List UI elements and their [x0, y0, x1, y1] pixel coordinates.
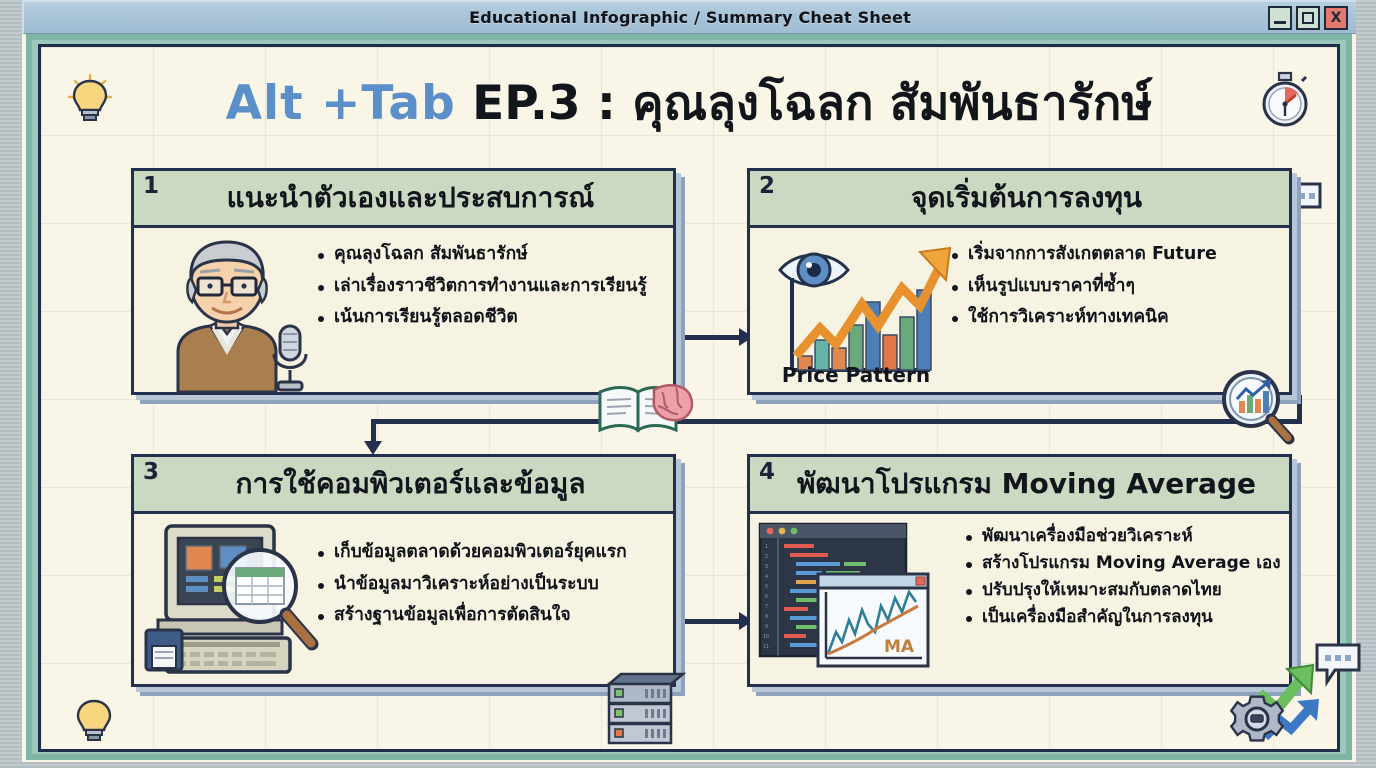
lightbulb-icon [71, 695, 117, 747]
minimize-icon [1274, 21, 1286, 24]
card-3-title: การใช้คอมพิวเตอร์และข้อมูล [222, 462, 586, 506]
svg-text:3: 3 [765, 564, 768, 570]
svg-text:11: 11 [763, 644, 769, 650]
ma-label: MA [884, 637, 915, 657]
card-4-body: 123 456 789 1011 [750, 514, 1289, 681]
card-4-title: พัฒนาโปรแกรม Moving Average [783, 462, 1256, 506]
card-2-title: จุดเริ่มต้นการลงทุน [897, 176, 1142, 220]
eye-over-price-chart: Price Pattern [750, 228, 928, 389]
connector-card3-to-card4 [680, 619, 742, 624]
card-3[interactable]: 3 การใช้คอมพิวเตอร์และข้อมูล [131, 454, 676, 687]
card-3-body: เก็บข้อมูลตลาดด้วยคอมพิวเตอร์ยุคแรก นำข้… [134, 514, 673, 681]
svg-text:8: 8 [765, 614, 768, 620]
svg-text:5: 5 [765, 584, 768, 590]
page-title-rest: EP.3 : คุณลุงโฉลก สัมพันธารักษ์ [456, 76, 1153, 131]
list-item: สร้างฐานข้อมูลเพื่อการตัดสินใจ [316, 607, 661, 625]
card-1-body: คุณลุงโฉลก สัมพันธารักษ์ เล่าเรื่องราวชี… [134, 228, 673, 389]
close-icon: X [1331, 11, 1342, 25]
retro-computer-with-magnifier-and-floppy-icon [134, 514, 312, 681]
list-item: คุณลุงโฉลก สัมพันธารักษ์ [316, 246, 661, 264]
magnifier-with-chart-icon [1215, 365, 1301, 451]
maximize-button[interactable] [1296, 6, 1320, 30]
maximize-icon [1302, 12, 1314, 24]
card-3-bullet-list: เก็บข้อมูลตลาดด้วยคอมพิวเตอร์ยุคแรก นำข้… [312, 514, 673, 639]
list-item: ปรับปรุงให้เหมาะสมกับตลาดไทย [964, 582, 1281, 599]
svg-text:1: 1 [765, 544, 768, 550]
page-title: Alt +Tab EP.3 : คุณลุงโฉลก สัมพันธารักษ์ [41, 65, 1337, 140]
connector-arrowhead [364, 441, 382, 455]
svg-text:9: 9 [765, 624, 768, 630]
card-2-body: Price Pattern เริ่มจากการสังเกตตลาด Futu… [750, 228, 1289, 389]
open-book-and-brain-icon [596, 380, 696, 438]
card-2-number: 2 [759, 173, 775, 199]
svg-text:2: 2 [765, 554, 768, 560]
connector-card1-to-card2 [680, 335, 742, 340]
gear-with-growth-arrows-icon [1217, 655, 1327, 747]
elderly-man-with-microphone-icon [134, 228, 312, 389]
stopwatch-icon [1258, 71, 1312, 129]
infographic-canvas: Alt +Tab EP.3 : คุณลุงโฉลก สัมพันธารักษ์ [38, 44, 1340, 752]
svg-text:10: 10 [763, 634, 769, 640]
card-1[interactable]: 1 แนะนำตัวเองและประสบการณ์ [131, 168, 676, 395]
window-title: Educational Infographic / Summary Cheat … [469, 8, 911, 27]
list-item: เล่าเรื่องราวชีวิตการทำงานและการเรียนรู้ [316, 278, 661, 296]
card-1-number: 1 [143, 173, 159, 199]
server-rack-icon [601, 670, 691, 746]
svg-text:4: 4 [765, 574, 768, 580]
list-item: สร้างโปรแกรม Moving Average เอง [964, 555, 1281, 572]
list-item: เก็บข้อมูลตลาดด้วยคอมพิวเตอร์ยุคแรก [316, 544, 661, 562]
list-item: เริ่มจากการสังเกตตลาด Future [950, 246, 1277, 264]
card-4[interactable]: 4 พัฒนาโปรแกรม Moving Average [747, 454, 1292, 687]
chart-caption: Price Pattern [766, 363, 946, 387]
card-1-header: 1 แนะนำตัวเองและประสบการณ์ [134, 171, 673, 228]
list-item: พัฒนาเครื่องมือช่วยวิเคราะห์ [964, 528, 1281, 545]
list-item: เห็นรูปแบบราคาที่ซ้ำๆ [950, 278, 1277, 296]
connector-card2-to-card3 [371, 419, 1302, 424]
card-1-title: แนะนำตัวเองและประสบการณ์ [213, 176, 595, 220]
code-editor-with-ma-chart-icon: 123 456 789 1011 [750, 514, 950, 681]
card-3-header: 3 การใช้คอมพิวเตอร์และข้อมูล [134, 457, 673, 514]
page-title-highlight: Alt +Tab [226, 76, 456, 131]
card-2-bullet-list: เริ่มจากการสังเกตตลาด Future เห็นรูปแบบร… [928, 228, 1289, 341]
card-2[interactable]: 2 จุดเริ่มต้นการลงทุน [747, 168, 1292, 395]
lightbulb-icon [67, 73, 113, 125]
close-button[interactable]: X [1324, 6, 1348, 30]
list-item: นำข้อมูลมาวิเคราะห์อย่างเป็นระบบ [316, 576, 661, 594]
desktop-background: Educational Infographic / Summary Cheat … [0, 0, 1376, 768]
card-3-number: 3 [143, 459, 159, 485]
card-4-number: 4 [759, 459, 775, 485]
window-controls: X [1268, 6, 1348, 30]
card-2-header: 2 จุดเริ่มต้นการลงทุน [750, 171, 1289, 228]
card-1-bullet-list: คุณลุงโฉลก สัมพันธารักษ์ เล่าเรื่องราวชี… [312, 228, 673, 341]
svg-text:6: 6 [765, 594, 768, 600]
card-4-header: 4 พัฒนาโปรแกรม Moving Average [750, 457, 1289, 514]
application-window: Educational Infographic / Summary Cheat … [22, 0, 1356, 762]
list-item: เน้นการเรียนรู้ตลอดชีวิต [316, 309, 661, 327]
list-item: ใช้การวิเคราะห์ทางเทคนิค [950, 309, 1277, 327]
card-4-bullet-list: พัฒนาเครื่องมือช่วยวิเคราะห์ สร้างโปรแกร… [950, 514, 1293, 636]
minimize-button[interactable] [1268, 6, 1292, 30]
list-item: เป็นเครื่องมือสำคัญในการลงทุน [964, 609, 1281, 626]
window-titlebar: Educational Infographic / Summary Cheat … [22, 0, 1356, 34]
svg-text:7: 7 [765, 604, 768, 610]
